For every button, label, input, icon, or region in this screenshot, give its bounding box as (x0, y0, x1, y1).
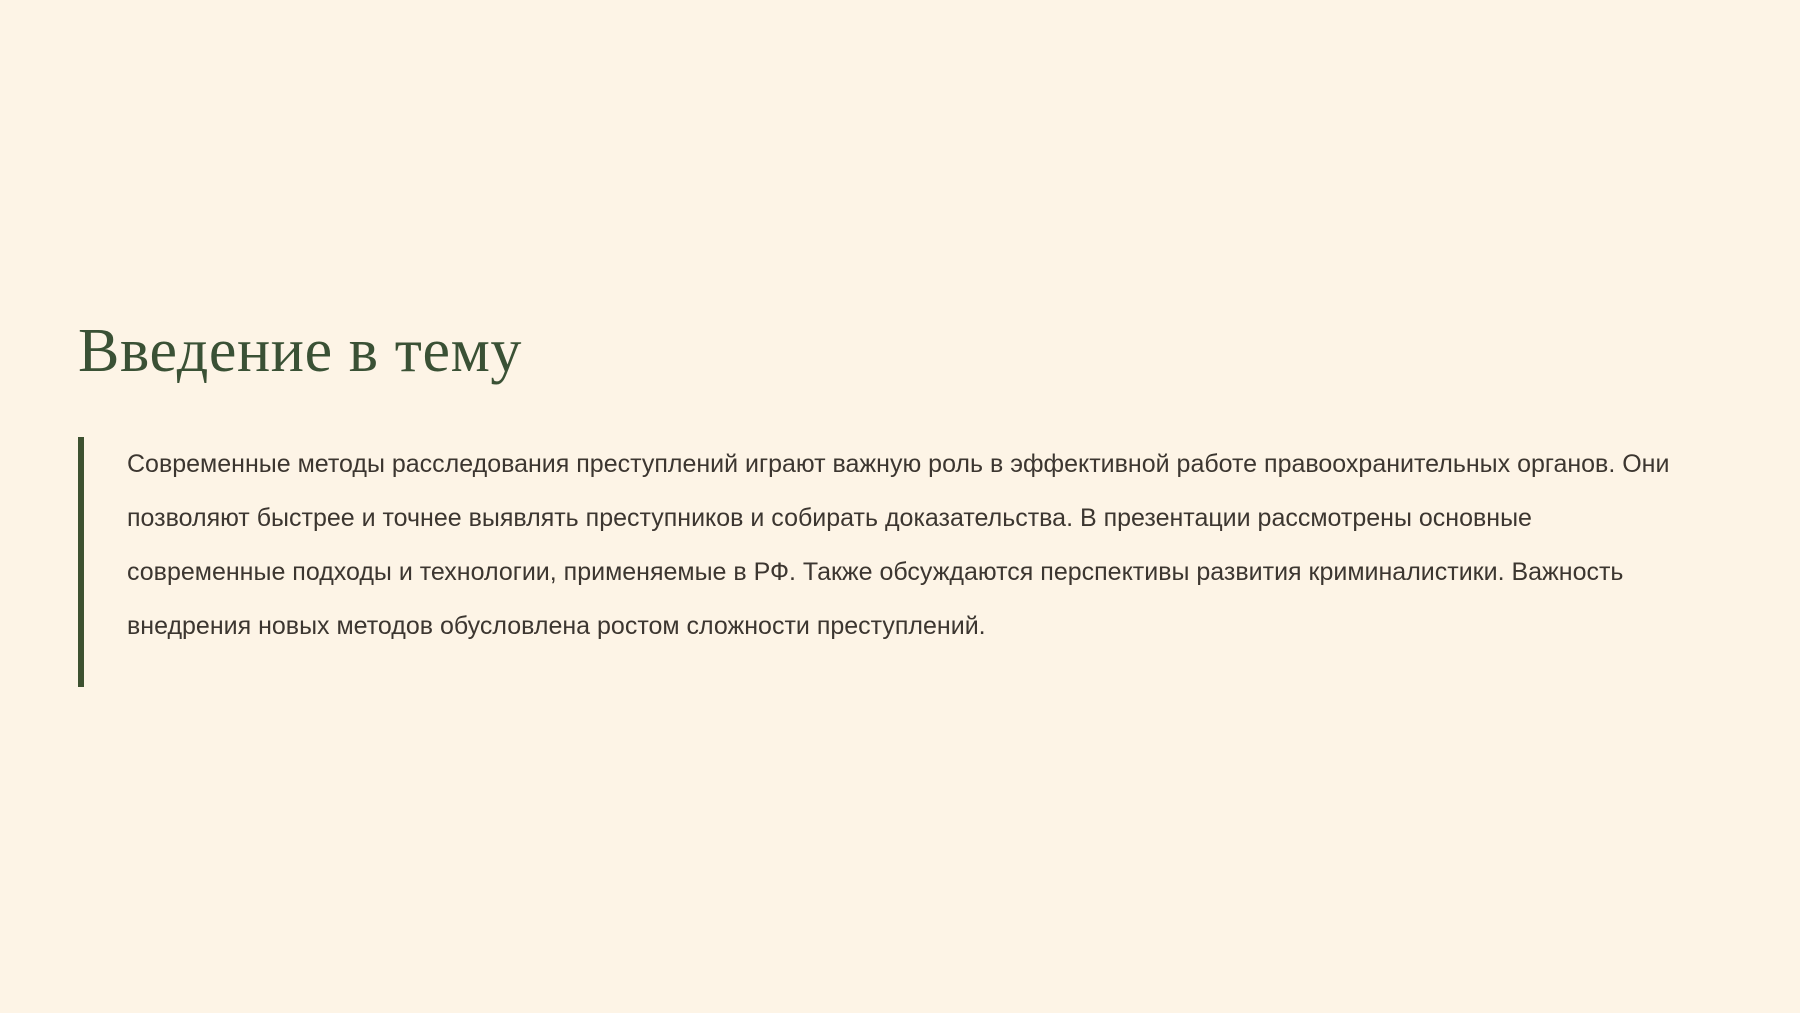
accent-bar (78, 437, 84, 687)
slide-content: Введение в тему Современные методы рассл… (78, 318, 1703, 653)
presentation-slide: Введение в тему Современные методы рассл… (0, 0, 1800, 1013)
body-paragraph: Современные методы расследования преступ… (127, 437, 1697, 653)
body-quote-block: Современные методы расследования преступ… (78, 437, 1703, 653)
page-title: Введение в тему (78, 318, 1703, 385)
